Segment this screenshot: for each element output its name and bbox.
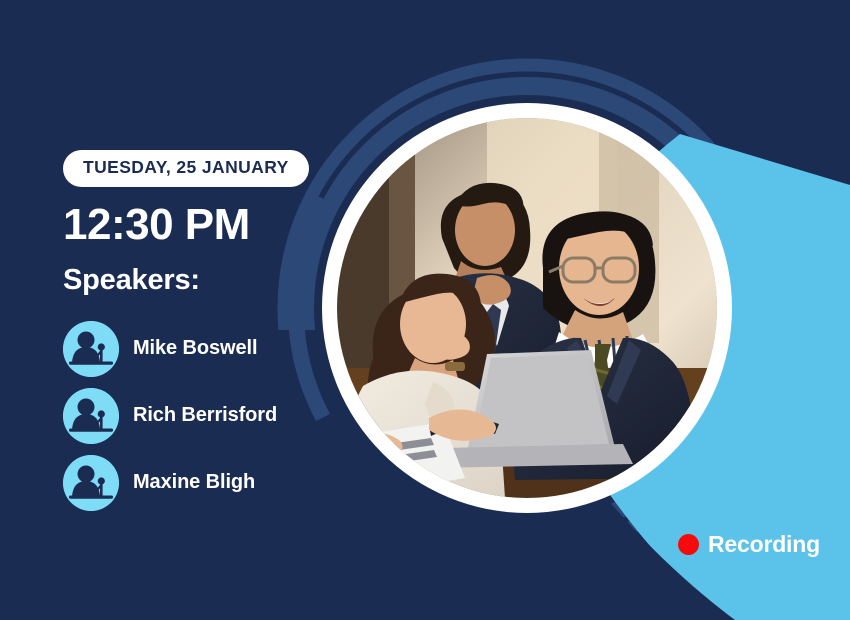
speaker-podium-icon	[63, 455, 119, 511]
event-time: 12:30 PM	[63, 201, 323, 249]
speaker-podium-icon	[63, 321, 119, 377]
recording-label: Recording	[708, 531, 820, 558]
photo-illustration	[337, 118, 717, 498]
speaker-name: Maxine Bligh	[133, 471, 255, 494]
list-item: Mike Boswell	[63, 321, 323, 377]
status-badge: Recording	[678, 531, 820, 558]
speaker-name: Rich Berrisford	[133, 404, 277, 427]
event-date-pill: TUESDAY, 25 JANUARY	[63, 150, 309, 187]
speaker-podium-icon	[63, 388, 119, 444]
list-item: Maxine Bligh	[63, 455, 323, 511]
record-dot-icon	[678, 534, 699, 555]
speakers-list: Mike Boswell Rich Berrisford	[63, 321, 323, 511]
speaker-name: Mike Boswell	[133, 337, 257, 360]
speakers-photo	[337, 118, 717, 498]
speakers-heading: Speakers:	[63, 265, 323, 297]
webinar-banner: TUESDAY, 25 JANUARY 12:30 PM Speakers:	[0, 0, 850, 620]
event-details-column: TUESDAY, 25 JANUARY 12:30 PM Speakers:	[63, 150, 323, 522]
list-item: Rich Berrisford	[63, 388, 323, 444]
